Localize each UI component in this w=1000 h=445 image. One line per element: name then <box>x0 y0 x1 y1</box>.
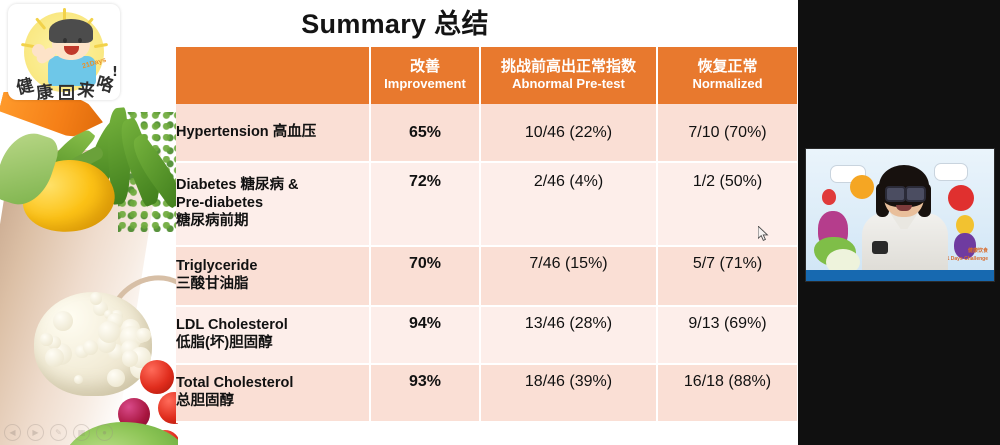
more-options-icon[interactable]: ● <box>96 424 113 441</box>
row-label-total-cholesterol: Total Cholesterol 总胆固醇 <box>176 364 370 422</box>
row-label-diabetes: Diabetes 糖尿病 & Pre-diabetes 糖尿病前期 <box>176 162 370 246</box>
cauliflower <box>34 292 152 396</box>
speech-bubble <box>934 163 968 181</box>
next-slide-icon[interactable]: ▶ <box>27 424 44 441</box>
table-header-row: 改善 Improvement 挑战前高出正常指数 Abnormal Pre-te… <box>176 47 797 104</box>
grocery-bag-image <box>0 92 178 445</box>
mouse-cursor <box>758 226 770 242</box>
cartoon-lemon <box>956 215 974 235</box>
summary-table: 改善 Improvement 挑战前高出正常指数 Abnormal Pre-te… <box>176 47 797 423</box>
cell-abnormal-pretest: 10/46 (22%) <box>480 104 657 162</box>
cell-improvement: 93% <box>370 364 480 422</box>
header-cell-improvement: 改善 Improvement <box>370 47 480 104</box>
table-row: LDL Cholesterol 低脂(坏)胆固醇 94% 13/46 (28%)… <box>176 306 797 364</box>
cell-improvement: 72% <box>370 162 480 246</box>
cell-normalized: 9/13 (69%) <box>657 306 797 364</box>
cauliflower-floret <box>40 333 52 345</box>
cartoon-orange <box>850 175 874 199</box>
cell-abnormal-pretest: 18/46 (39%) <box>480 364 657 422</box>
cell-improvement: 94% <box>370 306 480 364</box>
row-label-hypertension: Hypertension 高血压 <box>176 104 370 162</box>
table-row: Triglyceride 三酸甘油脂 70% 7/46 (15%) 5/7 (7… <box>176 246 797 306</box>
cartoon-apple <box>948 185 974 211</box>
cell-normalized: 5/7 (71%) <box>657 246 797 306</box>
cauliflower-floret <box>90 292 102 304</box>
row-label-ldl-cholesterol: LDL Cholesterol 低脂(坏)胆固醇 <box>176 306 370 364</box>
cell-normalized: 1/2 (50%) <box>657 162 797 246</box>
cauliflower-floret <box>45 348 64 367</box>
header-cell-abnormal-pretest: 挑战前高出正常指数 Abnormal Pre-test <box>480 47 657 104</box>
presentation-toolbar[interactable]: ◀ ▶ ✎ ▦ ● <box>4 424 113 441</box>
cauliflower-floret <box>107 369 125 387</box>
cell-abnormal-pretest: 13/46 (28%) <box>480 306 657 364</box>
grid-view-icon[interactable]: ▦ <box>73 424 90 441</box>
eyeglasses-icon <box>905 186 926 202</box>
video-panel: 健康饮食21 Days Challenge <box>798 0 1000 445</box>
page-title: Summary 总结 <box>0 2 790 41</box>
row-label-triglyceride: Triglyceride 三酸甘油脂 <box>176 246 370 306</box>
cauliflower-floret <box>122 350 139 367</box>
cell-normalized: 7/10 (70%) <box>657 104 797 162</box>
cauliflower-floret <box>136 328 150 342</box>
cauliflower-floret <box>83 340 98 355</box>
cell-improvement: 65% <box>370 104 480 162</box>
cauliflower-floret <box>53 311 73 331</box>
table-row: Diabetes 糖尿病 & Pre-diabetes 糖尿病前期 72% 2/… <box>176 162 797 246</box>
presentation-slide: ◀ ▶ ✎ ▦ ● 21Days 健 康 回 来 咯 ! Summary 总结 <box>0 0 1000 445</box>
pen-icon[interactable]: ✎ <box>50 424 67 441</box>
cauliflower-floret <box>74 375 83 384</box>
eyeglasses-icon <box>885 186 906 202</box>
header-cell-normalized: 恢复正常 Normalized <box>657 47 797 104</box>
previous-slide-icon[interactable]: ◀ <box>4 424 21 441</box>
participant-video-tile[interactable]: 健康饮食21 Days Challenge <box>805 148 995 282</box>
shirt-logo <box>872 241 888 254</box>
logo-fist <box>32 44 45 57</box>
header-cell-metric <box>176 47 370 104</box>
tomato <box>158 392 178 424</box>
table-row: Hypertension 高血压 65% 10/46 (22%) 7/10 (7… <box>176 104 797 162</box>
background-caption: 健康饮食21 Days Challenge <box>944 248 988 263</box>
logo-chinese-text: 健 康 回 来 咯 ! <box>14 64 116 98</box>
cell-abnormal-pretest: 7/46 (15%) <box>480 246 657 306</box>
cell-abnormal-pretest: 2/46 (4%) <box>480 162 657 246</box>
cell-normalized: 16/18 (88%) <box>657 364 797 422</box>
cartoon-strawberry <box>822 189 836 205</box>
tomato <box>140 360 174 394</box>
cell-improvement: 70% <box>370 246 480 306</box>
table-row: Total Cholesterol 总胆固醇 93% 18/46 (39%) 1… <box>176 364 797 422</box>
cauliflower-floret <box>98 321 120 343</box>
video-bottom-bar <box>806 270 994 281</box>
